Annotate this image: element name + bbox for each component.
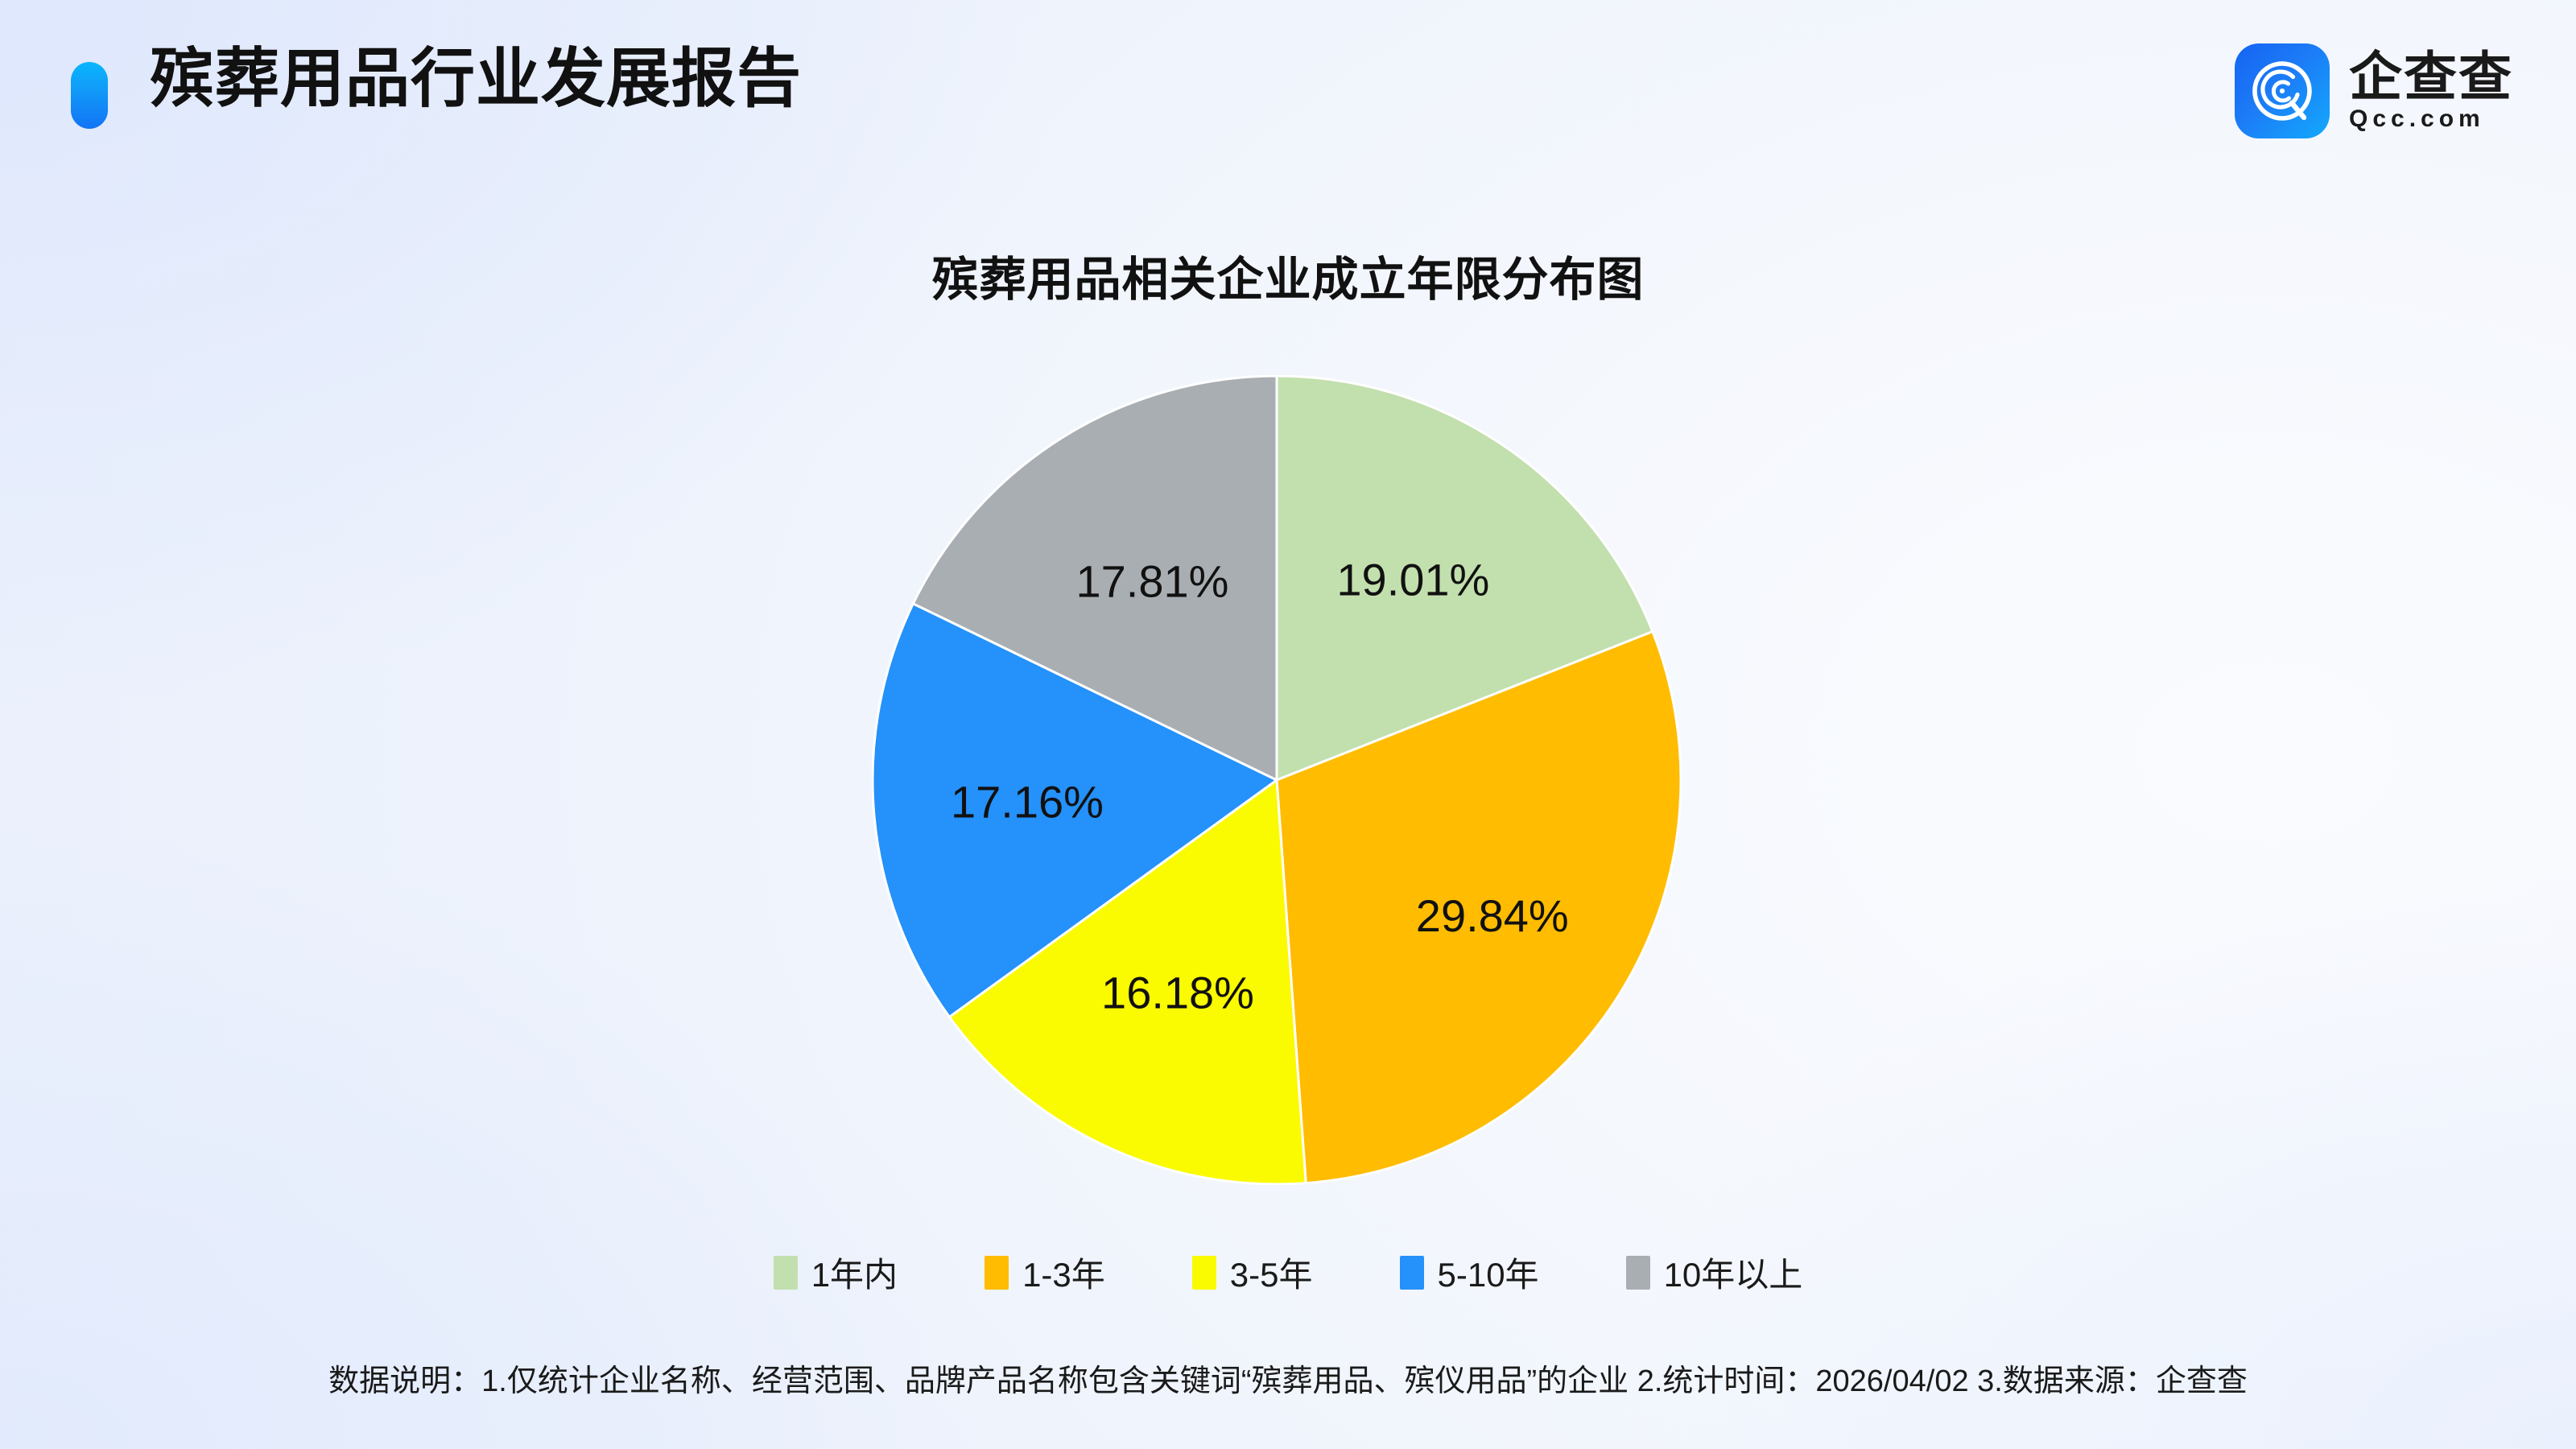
legend-label: 1-3年 (1022, 1248, 1105, 1297)
brand-domain: Qcc.com (2349, 105, 2513, 132)
pie-slice-label: 29.84% (1416, 890, 1569, 941)
pie-chart: 19.01%29.84%16.18%17.16%17.81% (872, 375, 1682, 1185)
chart-legend: 1年内1-3年3-5年5-10年10年以上 (0, 1248, 2576, 1297)
legend-label: 1年内 (811, 1248, 898, 1297)
legend-swatch (985, 1256, 1009, 1290)
legend-label: 5-10年 (1438, 1248, 1539, 1297)
brand-logo[interactable]: 企查查 Qcc.com (2235, 43, 2513, 138)
legend-label: 3-5年 (1230, 1248, 1313, 1297)
legend-item[interactable]: 1年内 (774, 1248, 898, 1297)
page-header: 殡葬用品行业发展报告 (0, 0, 2576, 189)
legend-item[interactable]: 1-3年 (985, 1248, 1105, 1297)
chart-title: 殡葬用品相关企业成立年限分布图 (0, 242, 2576, 309)
legend-swatch (1400, 1256, 1424, 1290)
data-note: 数据说明：1.仅统计企业名称、经营范围、品牌产品名称包含关键词“殡葬用品、殡仪用… (0, 1356, 2576, 1400)
report-page: 殡葬用品行业发展报告 (0, 0, 2576, 1449)
brand-wordmark: 企查查 Qcc.com (2349, 50, 2513, 132)
pie-slice-label: 17.81% (1075, 556, 1228, 607)
legend-swatch (774, 1256, 798, 1290)
legend-item[interactable]: 10年以上 (1626, 1248, 1803, 1297)
legend-swatch (1192, 1256, 1216, 1290)
legend-item[interactable]: 5-10年 (1400, 1248, 1539, 1297)
legend-item[interactable]: 3-5年 (1192, 1248, 1313, 1297)
qcc-q-spiral-icon (2235, 43, 2330, 138)
title-accent-bar (71, 62, 108, 129)
brand-name-cn: 企查查 (2349, 50, 2513, 104)
pie-slice-label: 16.18% (1101, 967, 1254, 1018)
legend-label: 10年以上 (1664, 1248, 1803, 1297)
legend-swatch (1626, 1256, 1650, 1290)
pie-slice-label: 17.16% (951, 777, 1104, 828)
page-title: 殡葬用品行业发展报告 (150, 40, 802, 118)
pie-slice-label: 19.01% (1336, 554, 1489, 605)
